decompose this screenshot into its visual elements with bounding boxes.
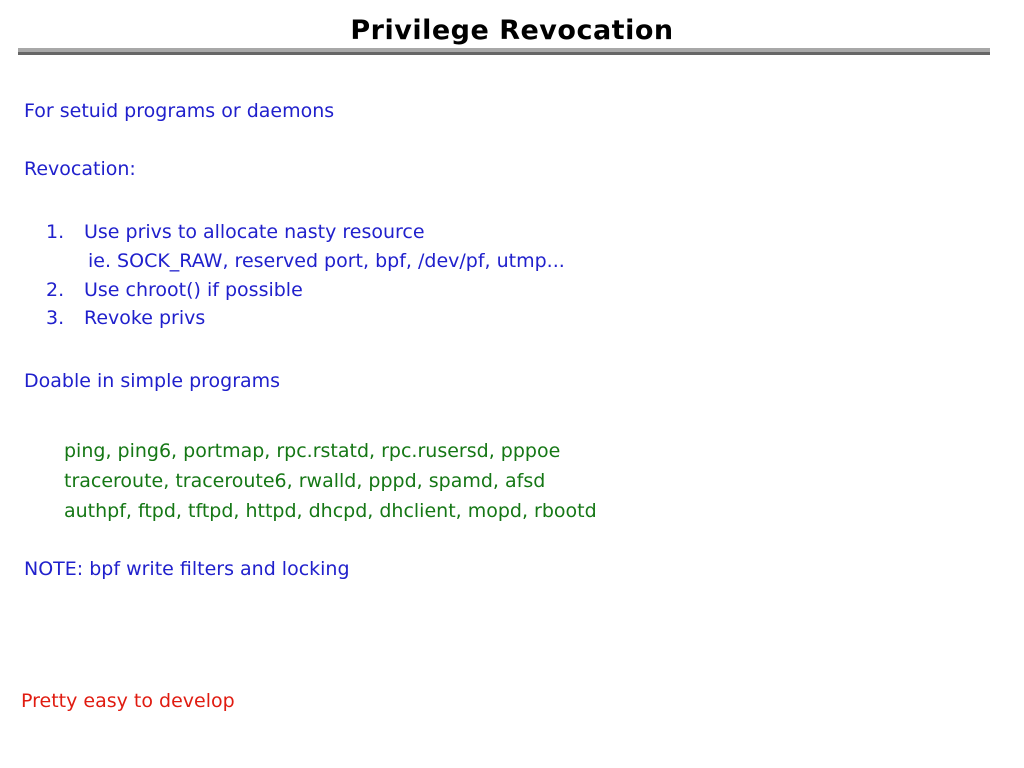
list-marker: 3. <box>46 304 84 332</box>
list-item-label: Revoke privs <box>84 304 205 332</box>
list-item: 2.Use chroot() if possible <box>46 276 746 304</box>
list-item-detail: ie. SOCK_RAW, reserved port, bpf, /dev/p… <box>46 246 746 276</box>
divider-shadow <box>18 52 990 55</box>
list-item-label: Use privs to allocate nasty resource <box>84 218 425 246</box>
closing-text: Pretty easy to develop <box>21 692 235 711</box>
daemon-list-line: traceroute, traceroute6, rwalld, pppd, s… <box>64 466 597 496</box>
list-marker: 2. <box>46 276 84 304</box>
daemon-list: ping, ping6, portmap, rpc.rstatd, rpc.ru… <box>64 436 597 526</box>
list-item: 3.Revoke privs <box>46 304 746 332</box>
doable-label: Doable in simple programs <box>24 372 280 391</box>
list-marker: 1. <box>46 218 84 246</box>
presentation-slide: Privilege Revocation For setuid programs… <box>0 0 1024 768</box>
list-item-label: Use chroot() if possible <box>84 276 303 304</box>
slide-title: Privilege Revocation <box>0 16 1024 46</box>
daemon-list-line: ping, ping6, portmap, rpc.rstatd, rpc.ru… <box>64 436 597 466</box>
list-item: 1.Use privs to allocate nasty resource <box>46 218 746 246</box>
intro-text: For setuid programs or daemons <box>24 102 334 121</box>
daemon-list-line: authpf, ftpd, tftpd, httpd, dhcpd, dhcli… <box>64 496 597 526</box>
title-divider <box>18 48 990 55</box>
note-text: NOTE: bpf write filters and locking <box>24 560 350 579</box>
section-label-revocation: Revocation: <box>24 160 136 179</box>
revocation-steps-list: 1.Use privs to allocate nasty resource i… <box>46 218 746 332</box>
